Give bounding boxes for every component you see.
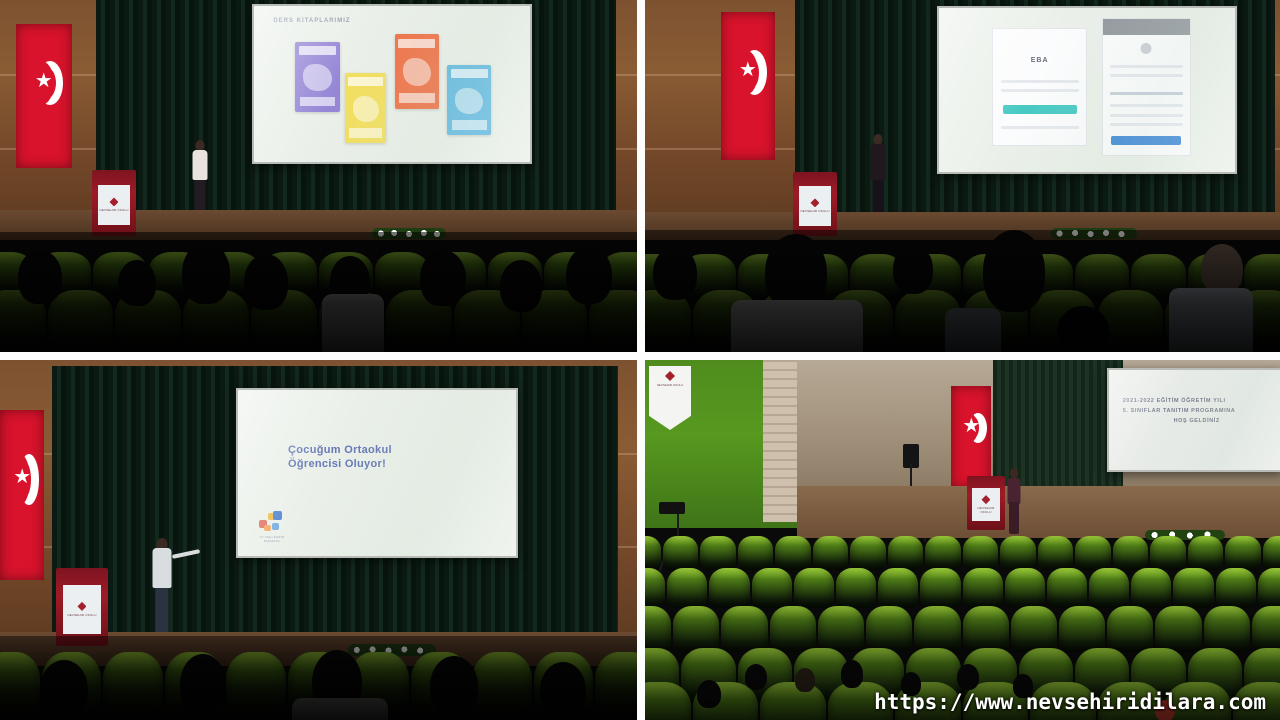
stone-column <box>763 360 797 522</box>
slide-title: DERS KITAPLARIMIZ <box>273 18 350 24</box>
book-cover <box>395 34 439 109</box>
projection-screen-bottom-right: 2021-2022 EĞİTİM ÖĞRETİM YILI 5. SINIFLA… <box>1107 368 1280 472</box>
projection-screen-top-right: EBA <box>937 6 1237 174</box>
photo-panel-top-left: DERS KITAPLARIMIZ NEVSEHIR <box>0 0 637 352</box>
audience-area <box>645 230 1280 352</box>
audience-head <box>182 242 230 304</box>
book-cover <box>447 65 491 135</box>
presenter-figure <box>150 538 174 638</box>
audience-head <box>957 664 979 690</box>
screenshot-login-button <box>1003 105 1077 114</box>
audience-area <box>0 232 637 352</box>
podium: NEVSEHIR OKULU <box>56 568 108 646</box>
screenshot-submit-button <box>1111 136 1180 145</box>
audience-head <box>40 660 88 718</box>
site-watermark: https://www.nevsehiridilara.com <box>874 690 1266 714</box>
camera-body <box>659 502 685 514</box>
podium-sign: NEVSEHIR OKULU <box>799 186 831 226</box>
website-screenshot-eba: EBA <box>992 28 1087 146</box>
audience-head <box>244 254 288 310</box>
audience-head <box>841 660 863 688</box>
audience-head <box>420 250 466 306</box>
podium-sign: NEVSEHIR OKULU <box>63 585 100 633</box>
audience-head <box>745 664 767 690</box>
book-cover <box>295 42 339 112</box>
audience-area <box>0 636 637 720</box>
audience-shirt <box>1169 288 1253 352</box>
audience-shirt <box>292 698 388 720</box>
audience-head <box>540 662 586 718</box>
photo-collage: DERS KITAPLARIMIZ NEVSEHIR <box>0 0 1280 720</box>
podium: NEVSEHIR OKULU <box>793 172 837 236</box>
audience-head <box>1201 244 1243 294</box>
audience-head <box>1057 306 1109 352</box>
audience-head <box>18 250 62 304</box>
projection-screen-bottom-left: Çocuğum Ortaokul Öğrencisi Oluyor! T.C. … <box>236 388 518 558</box>
slide-title: Çocuğum Ortaokul Öğrencisi Oluyor! <box>288 443 483 471</box>
slide-welcome-text: 2021-2022 EĞİTİM ÖĞRETİM YILI 5. SINIFLA… <box>1123 396 1271 426</box>
podium-sign: NEVSEHIR OKULU <box>98 185 130 226</box>
collage-gutter-vertical <box>637 0 645 720</box>
book-cover <box>345 73 386 143</box>
audience-head <box>893 244 933 294</box>
audience-head <box>430 656 478 716</box>
turkish-flag-icon <box>951 386 991 488</box>
website-screenshot-eokul <box>1102 18 1191 156</box>
audience-head <box>180 654 226 714</box>
audience-head <box>765 234 827 310</box>
photo-panel-bottom-left: Çocuğum Ortaokul Öğrencisi Oluyor! T.C. … <box>0 360 637 720</box>
audience-shirt <box>322 294 384 352</box>
audience-shirt <box>945 308 1001 352</box>
turkish-flag-icon <box>16 24 72 168</box>
audience-head <box>795 668 815 692</box>
audience-head <box>118 260 156 306</box>
audience-head <box>653 246 697 300</box>
photo-panel-top-right: EBA <box>645 0 1280 352</box>
audience-head <box>500 260 542 312</box>
projection-screen-top-left: DERS KITAPLARIMIZ <box>252 4 532 164</box>
turkish-flag-icon <box>0 410 44 580</box>
meb-logo-icon: T.C. MILLI EGITIM BAKANLIGI <box>255 511 289 543</box>
turkish-flag-icon <box>721 12 775 160</box>
audience-head <box>697 680 721 708</box>
photo-panel-bottom-right: NEVSEHIR OKULU 2021-2022 EĞİTİM ÖĞRETİM … <box>645 360 1280 720</box>
audience-shirt <box>731 300 863 352</box>
podium: NEVSEHIR OKULU <box>92 170 136 236</box>
collage-gutter-horizontal <box>0 352 1280 360</box>
audience-head <box>566 246 612 304</box>
audience-head <box>983 230 1045 312</box>
